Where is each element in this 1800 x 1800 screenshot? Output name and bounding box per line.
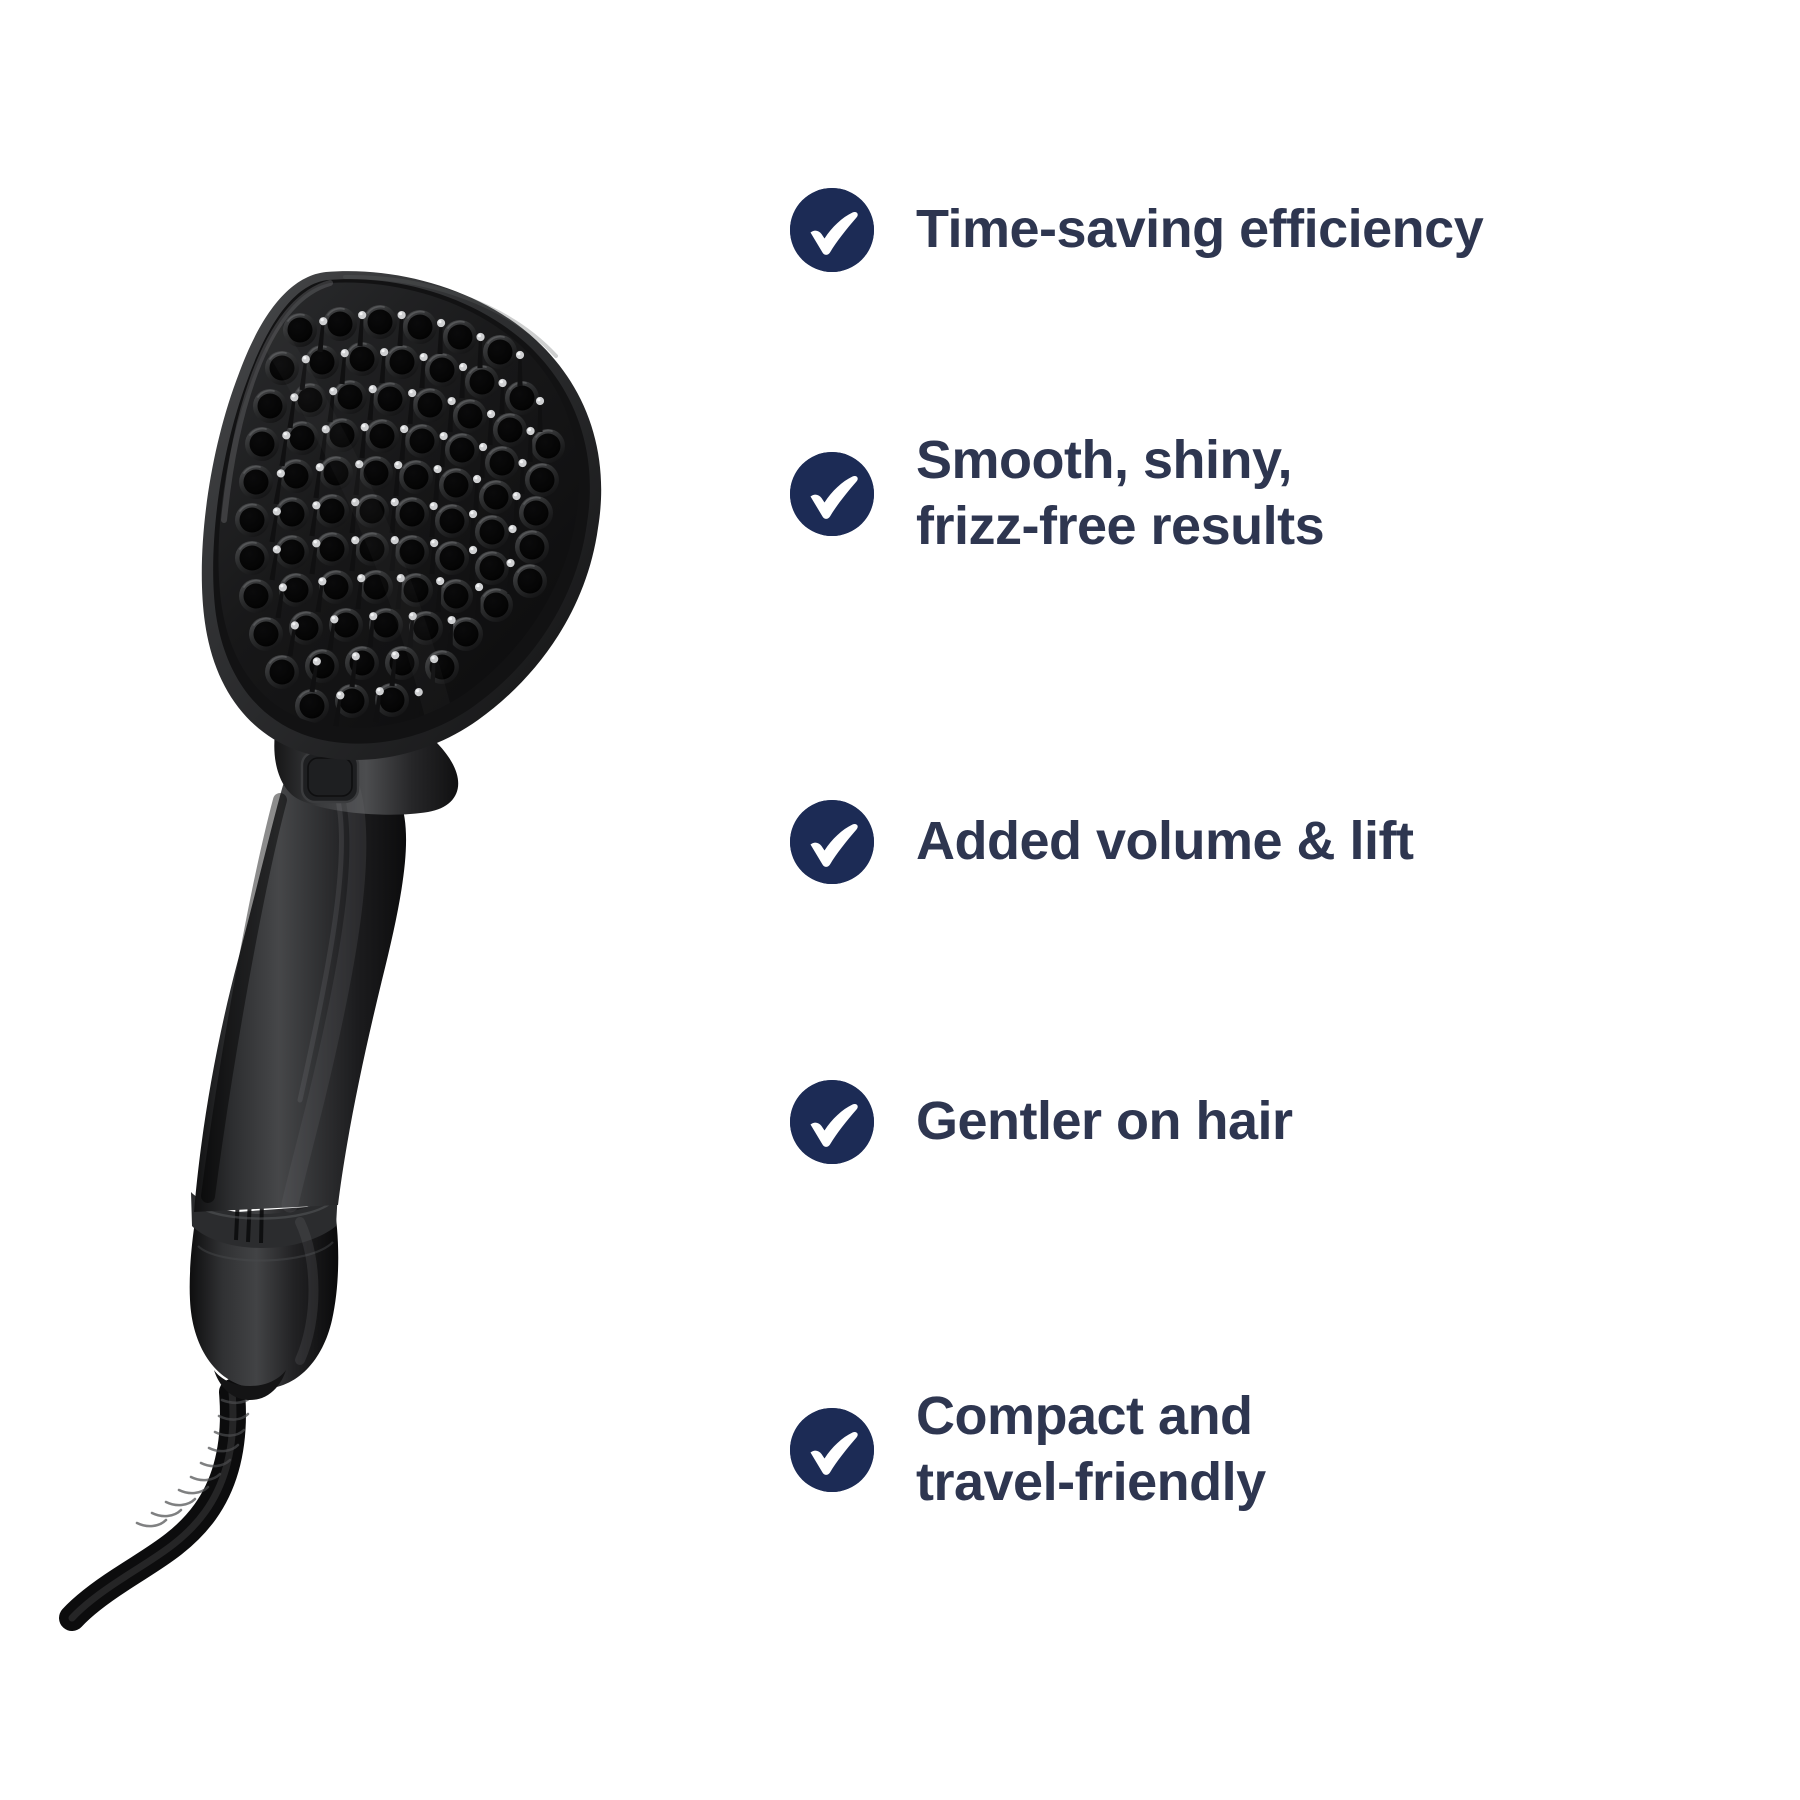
infographic-canvas: Time-saving efficiency Smooth, shiny, fr…: [0, 0, 1800, 1800]
brush-head: [202, 271, 601, 760]
check-circle-icon: [790, 1080, 874, 1164]
benefits-list: Time-saving efficiency Smooth, shiny, fr…: [790, 0, 1800, 1800]
dryer-base: [190, 1190, 339, 1400]
benefit-item: Smooth, shiny, frizz-free results: [790, 428, 1800, 560]
benefit-item: Time-saving efficiency: [790, 188, 1800, 272]
benefit-label: Added volume & lift: [916, 809, 1414, 875]
benefit-label: Time-saving efficiency: [916, 197, 1483, 263]
benefit-item: Added volume & lift: [790, 800, 1800, 884]
benefit-item: Gentler on hair: [790, 1080, 1800, 1164]
check-circle-icon: [790, 1408, 874, 1492]
power-cord: [72, 1392, 250, 1618]
check-circle-icon: [790, 188, 874, 272]
product-image: [0, 0, 700, 1800]
check-circle-icon: [790, 800, 874, 884]
check-circle-icon: [790, 452, 874, 536]
dryer-handle: [194, 698, 458, 1212]
benefit-label: Compact and travel-friendly: [916, 1384, 1266, 1516]
benefit-item: Compact and travel-friendly: [790, 1384, 1800, 1516]
benefit-label: Smooth, shiny, frizz-free results: [916, 428, 1324, 560]
hair-dryer-brush-illustration: [0, 0, 700, 1800]
benefit-label: Gentler on hair: [916, 1089, 1293, 1155]
